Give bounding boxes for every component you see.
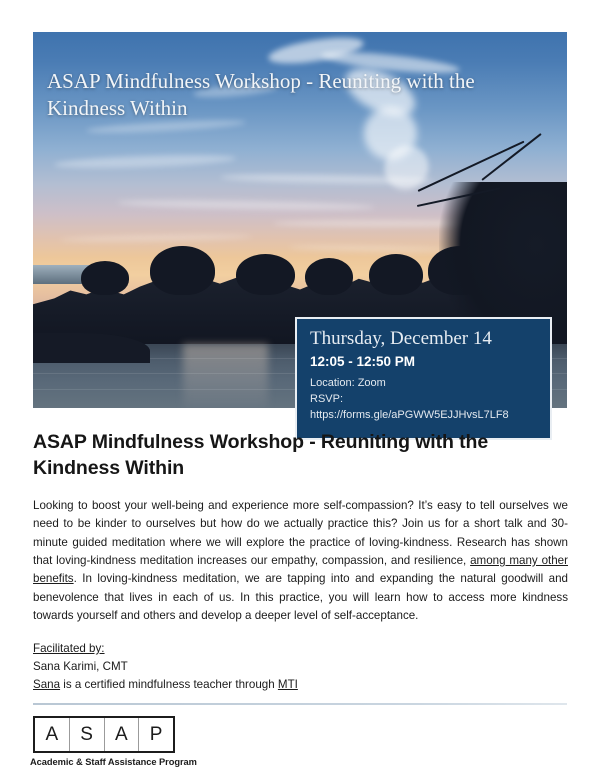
event-rsvp-link[interactable]: RSVP: https://forms.gle/aPGWW5EJJHvsL7LF… (310, 392, 537, 424)
event-time: 12:05 - 12:50 PM (310, 354, 537, 369)
asap-logo: A S A P (33, 716, 175, 753)
logo-letter-a2: A (105, 718, 140, 751)
logo-letter-p: P (139, 718, 173, 751)
tree-silhouette (150, 246, 214, 295)
tree-silhouette (369, 254, 422, 295)
event-location: Location: Zoom (310, 376, 537, 392)
body-text-part-2: . In loving-kindness meditation, we are … (33, 572, 568, 622)
tree-silhouette (236, 254, 295, 295)
page-title: ASAP Mindfulness Workshop - Reuniting wi… (33, 430, 533, 481)
tree-silhouette (81, 261, 129, 295)
footer-divider (33, 703, 567, 705)
mti-link[interactable]: MTI (278, 678, 298, 691)
body-paragraph: Looking to boost your well-being and exp… (33, 497, 568, 625)
facilitated-by-label: Facilitated by: (33, 640, 453, 658)
logo-letter-a1: A (35, 718, 70, 751)
hero-title: ASAP Mindfulness Workshop - Reuniting wi… (47, 68, 502, 122)
facilitator-bio: Sana is a certified mindfulness teacher … (33, 676, 453, 694)
event-date: Thursday, December 14 (310, 328, 537, 351)
logo-letter-s: S (70, 718, 105, 751)
facilitator-name: Sana Karimi, CMT (33, 658, 453, 676)
event-details-box: Thursday, December 14 12:05 - 12:50 PM L… (295, 317, 552, 440)
water-reflection (183, 344, 268, 408)
facilitator-bio-text: is a certified mindfulness teacher throu… (60, 678, 278, 691)
logo-caption: Academic & Staff Assistance Program (30, 757, 197, 767)
facilitator-block: Facilitated by: Sana Karimi, CMT Sana is… (33, 640, 453, 694)
facilitator-profile-link[interactable]: Sana (33, 678, 60, 691)
tree-silhouette (305, 258, 353, 296)
